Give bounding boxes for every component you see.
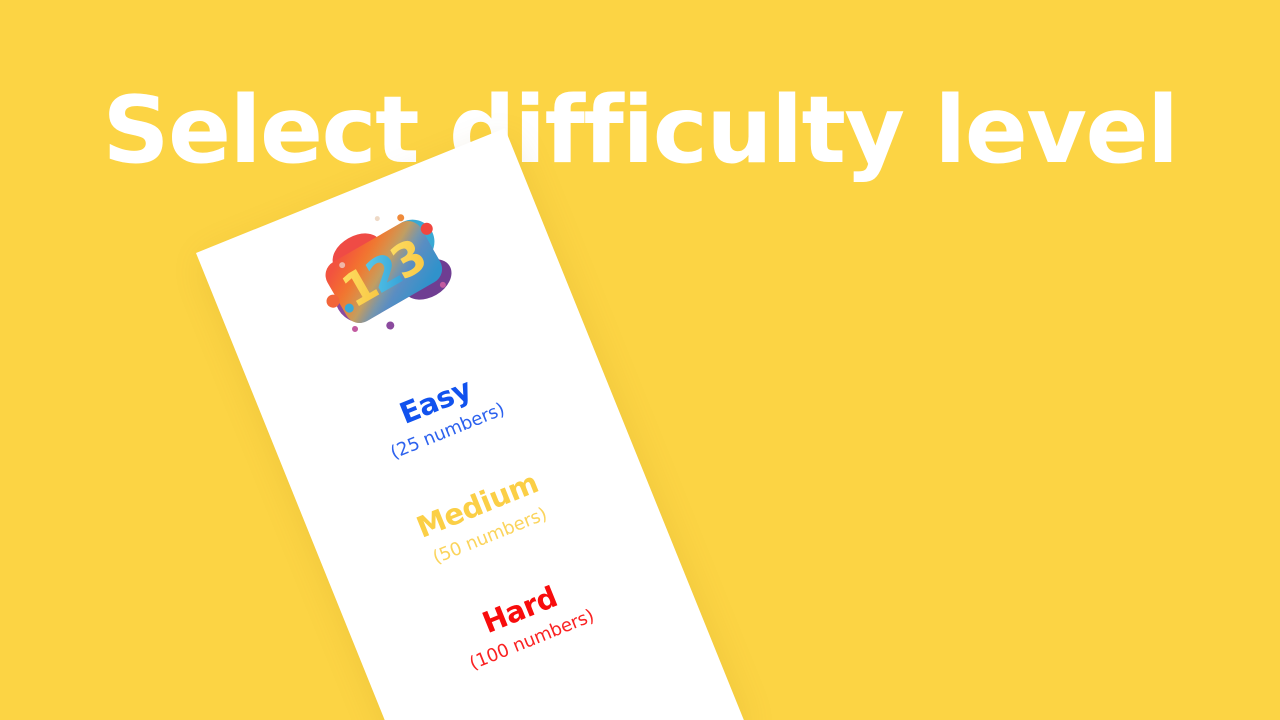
difficulty-select-screen: Select difficulty level <box>0 0 1280 720</box>
difficulty-card-body: 1 2 3 <box>196 128 745 720</box>
difficulty-option-hard[interactable]: Hard (100 numbers) <box>453 571 598 675</box>
difficulty-card-rotor: 1 2 3 <box>196 128 745 720</box>
difficulty-option-medium[interactable]: Medium (50 numbers) <box>413 467 553 569</box>
page-title: Select difficulty level <box>0 78 1280 182</box>
difficulty-list: Easy (25 numbers) Medium (50 numbers) Ha… <box>275 325 690 712</box>
difficulty-option-easy[interactable]: Easy (25 numbers) <box>374 365 508 464</box>
numbers-123-icon: 1 2 3 <box>292 187 477 361</box>
